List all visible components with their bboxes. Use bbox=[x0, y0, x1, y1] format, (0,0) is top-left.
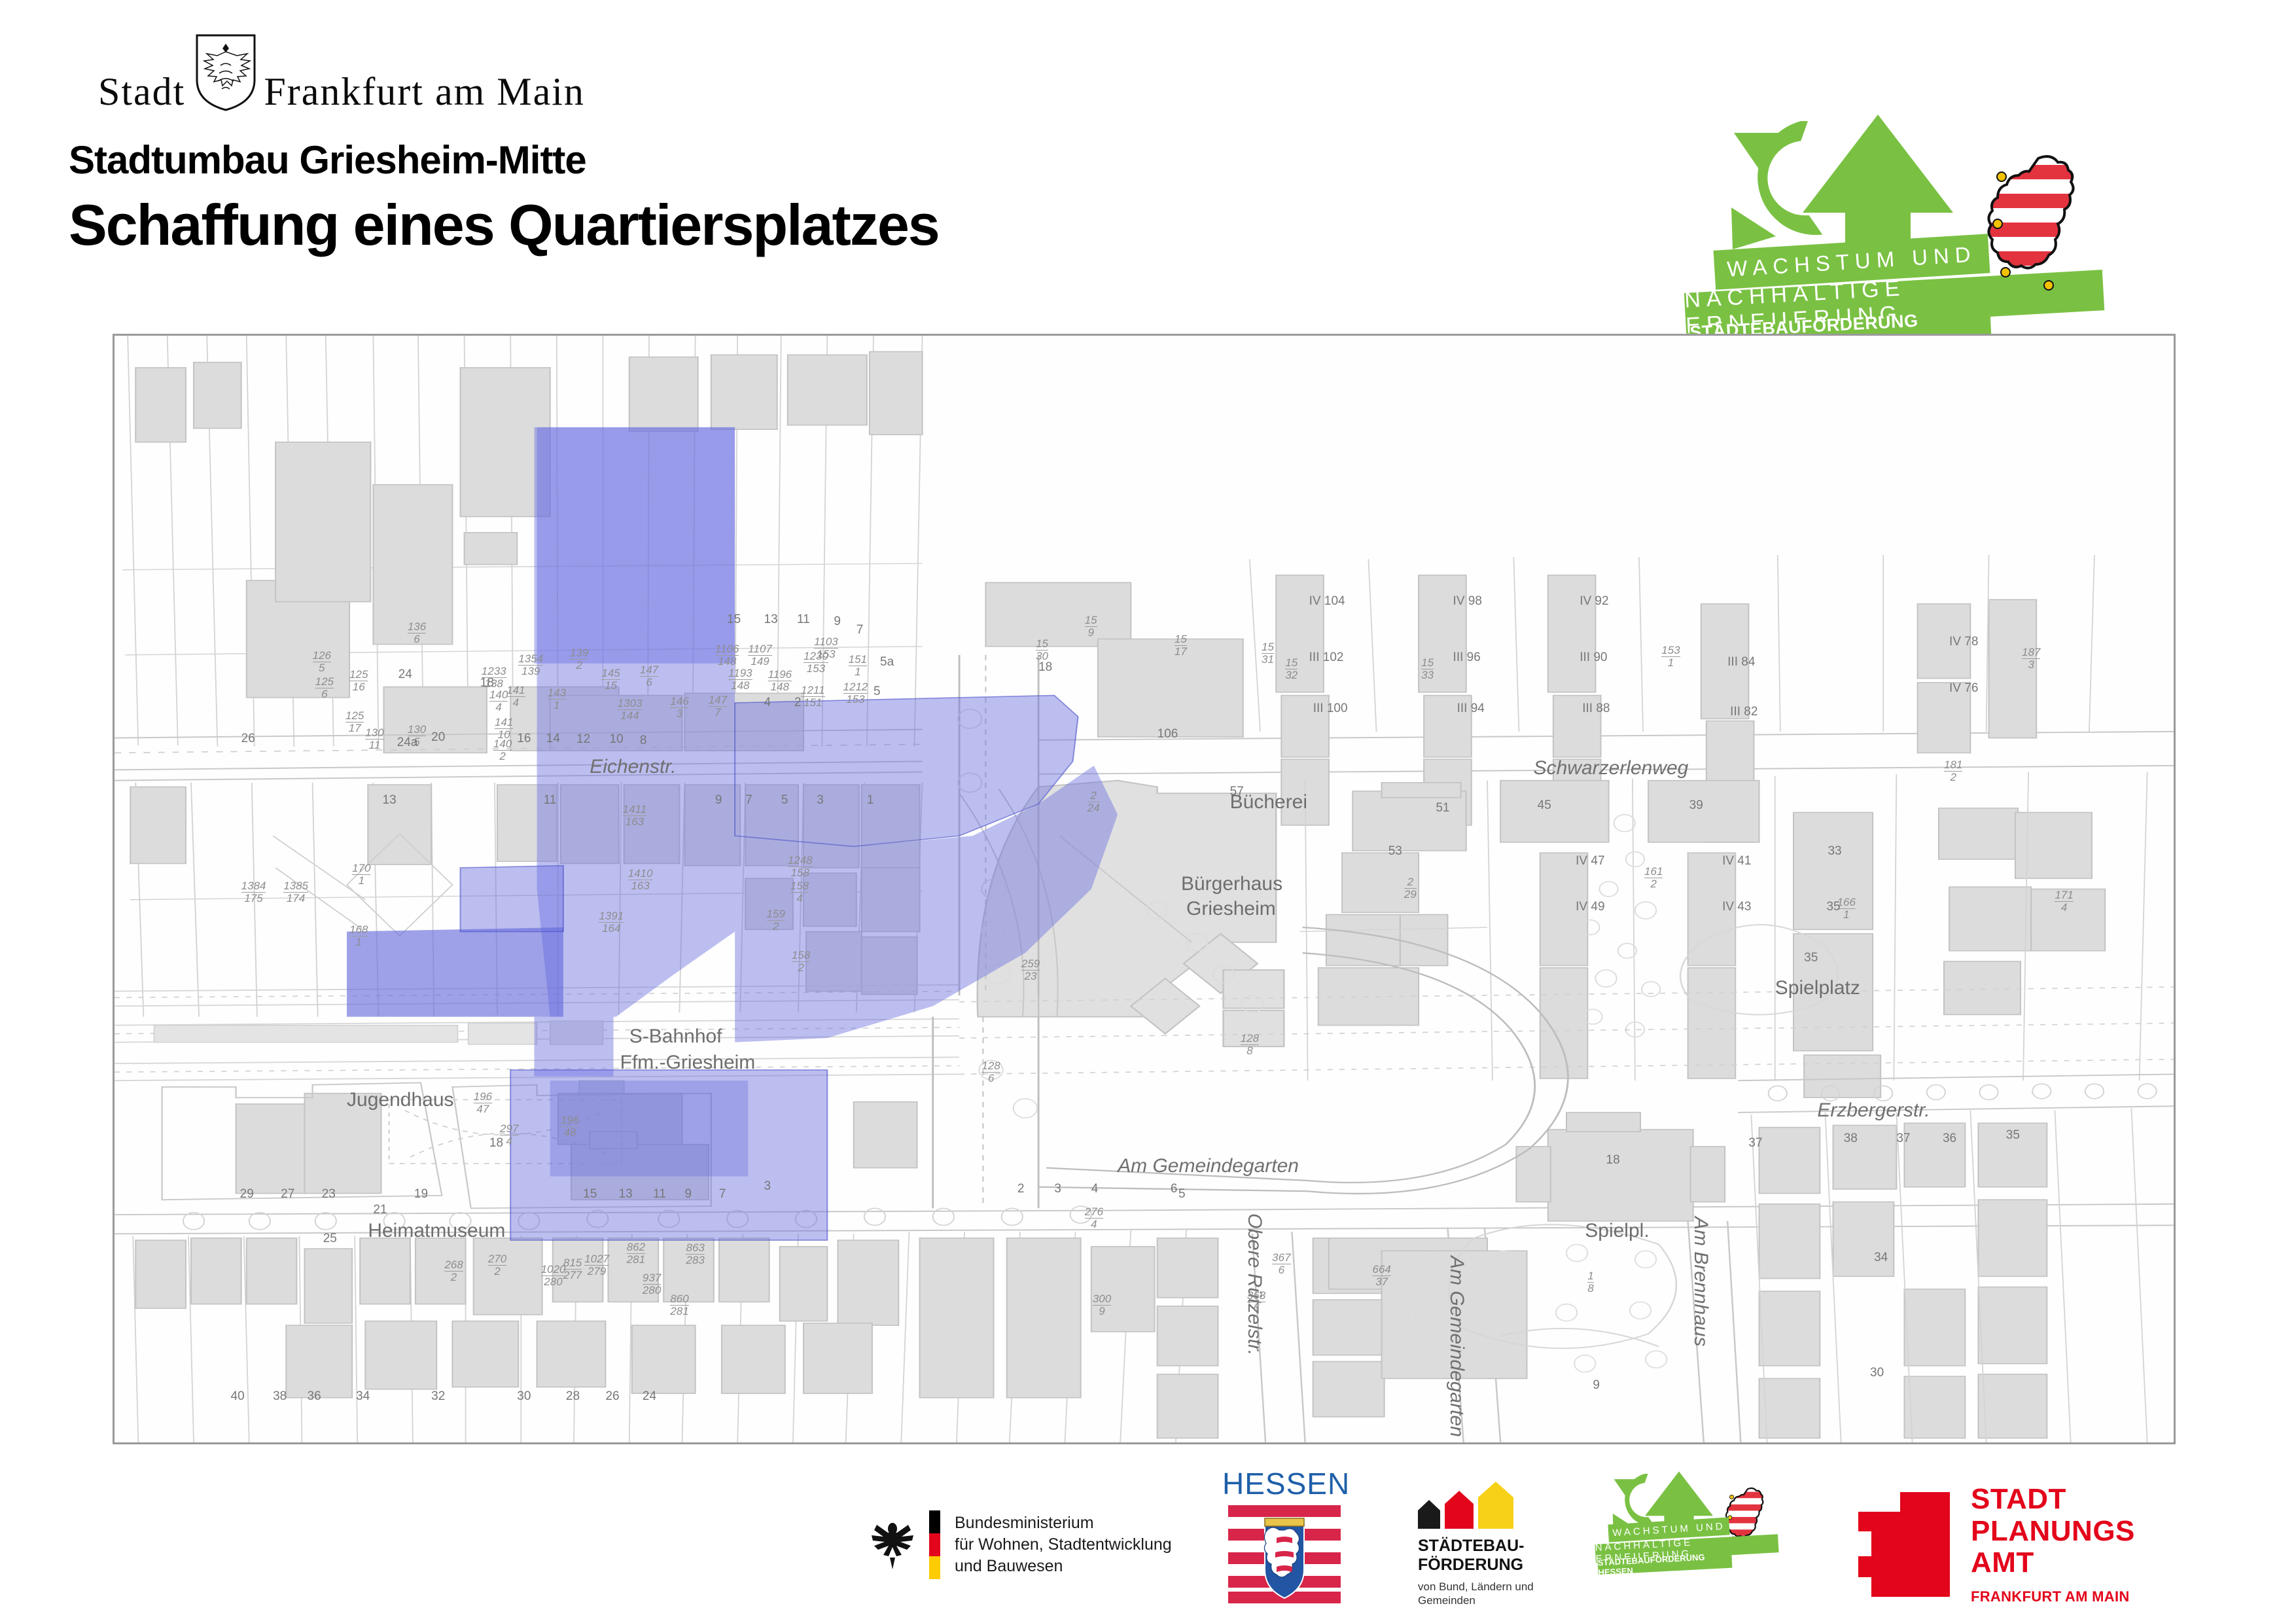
staedtebaufoerderung-logo: STÄDTEBAU- FÖRDERUNG von Bund, Ländern u… bbox=[1410, 1466, 1580, 1623]
spa-line-2: PLANUNGS bbox=[1971, 1516, 2135, 1547]
staedtebau-sub-2: Gemeinden bbox=[1418, 1594, 1580, 1607]
bmwsb-logo: Bundesministerium für Wohnen, Stadtentwi… bbox=[870, 1466, 1178, 1623]
stadtplanungsamt-logo: STADT PLANUNGS AMT FRANKFURT AM MAIN bbox=[1858, 1466, 2185, 1623]
page-subtitle: Stadtumbau Griesheim-Mitte bbox=[69, 137, 939, 183]
spa-line-1: STADT bbox=[1971, 1484, 2135, 1515]
wne-line-3: STÄDTEBAUFÖRDERUNG HESSEN bbox=[1598, 1554, 1733, 1575]
page-footer: Bundesministerium für Wohnen, Stadtentwi… bbox=[0, 1466, 2296, 1623]
wachstum-nachhaltige-erneuerung-logo: WACHSTUM UND NACHHALTIGE ERNEUERUNG STÄD… bbox=[1597, 1466, 1812, 1623]
bundesadler-icon bbox=[870, 1518, 915, 1571]
stadtplanungsamt-mark-icon bbox=[1858, 1492, 1950, 1597]
staedtebau-sub-1: von Bund, Ländern und bbox=[1418, 1580, 1580, 1594]
spa-line-3: AMT bbox=[1971, 1547, 2135, 1578]
spa-line-4: FRANKFURT AM MAIN bbox=[1971, 1588, 2135, 1605]
map-vector-layer bbox=[115, 336, 2174, 1442]
city-logo-word-frankfurt: Frankfurt am Main bbox=[264, 72, 585, 111]
german-flag-bar bbox=[929, 1510, 940, 1579]
program-logo-wachstum-und-nachhaltige-erneuerung: WACHSTUM UND NACHHALTIGE ERNEUERUNG STÄD… bbox=[1698, 115, 2195, 330]
frankfurt-eagle-crest-icon bbox=[194, 34, 257, 111]
growth-arrow-icon bbox=[1803, 115, 1953, 255]
stadtplanungsamt-text: STADT PLANUNGS AMT FRANKFURT AM MAIN bbox=[1971, 1484, 2135, 1605]
bmwsb-text: Bundesministerium für Wohnen, Stadtentwi… bbox=[955, 1512, 1172, 1577]
page-header: Stadt Frankfurt am Main Stadtumbau Gries… bbox=[0, 0, 2296, 327]
hessen-label: HESSEN bbox=[1222, 1466, 1347, 1501]
hessen-state-logo: HESSEN bbox=[1222, 1466, 1347, 1623]
page-title: Schaffung eines Quartiersplatzes bbox=[69, 192, 939, 259]
hessen-coat-of-arms-icon bbox=[1228, 1505, 1341, 1603]
cadastral-map[interactable]: Eichenstr.SchwarzerlenwegAm Gemeindegart… bbox=[113, 334, 2176, 1444]
bmwsb-line-3: und Bauwesen bbox=[955, 1556, 1172, 1577]
hessen-lion-icon bbox=[1986, 151, 2091, 294]
title-block: Stadtumbau Griesheim-Mitte Schaffung ein… bbox=[69, 137, 939, 259]
bmwsb-line-1: Bundesministerium bbox=[955, 1512, 1172, 1534]
bmwsb-line-2: für Wohnen, Stadtentwicklung bbox=[955, 1534, 1172, 1556]
city-logo-word-stadt: Stadt bbox=[98, 72, 185, 111]
three-houses-icon bbox=[1418, 1483, 1580, 1529]
staedtebau-line-2: FÖRDERUNG bbox=[1418, 1556, 1580, 1575]
staedtebau-line-1: STÄDTEBAU- bbox=[1418, 1537, 1580, 1556]
city-of-frankfurt-logo: Stadt Frankfurt am Main bbox=[98, 34, 585, 111]
